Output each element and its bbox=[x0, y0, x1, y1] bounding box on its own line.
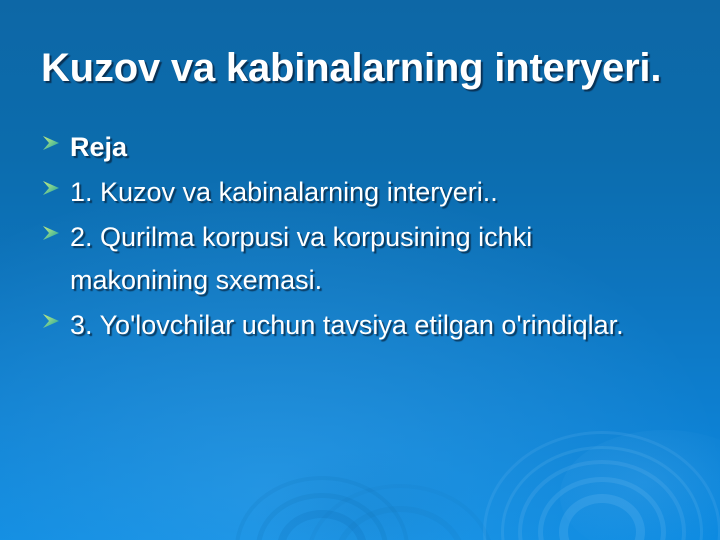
ripple-ring bbox=[483, 431, 720, 540]
ripple-ring bbox=[559, 494, 645, 540]
list-item-label: Reja bbox=[70, 126, 662, 169]
list-item-label: 2. Qurilma korpusi va korpusining ichki … bbox=[70, 216, 662, 302]
ripple-ring bbox=[538, 477, 666, 540]
list-item-label: 1. Kuzov va kabinalarning interyeri.. bbox=[70, 171, 662, 214]
arrowhead-bullet-icon bbox=[42, 135, 70, 173]
ripple-ring bbox=[306, 484, 494, 540]
ripple-ring bbox=[235, 476, 409, 540]
list-item: 1. Kuzov va kabinalarning interyeri.. bbox=[42, 171, 662, 214]
ripple-ring bbox=[277, 510, 367, 540]
arrowhead-bullet-icon bbox=[42, 180, 70, 218]
background-shadow-blob bbox=[250, 450, 480, 540]
list-item: Reja bbox=[42, 126, 662, 169]
ripple-ring bbox=[501, 446, 703, 540]
presentation-slide: Kuzov va kabinalarning interyeri. Reja bbox=[0, 0, 720, 540]
ripple-ring bbox=[518, 460, 686, 540]
slide-title: Kuzov va kabinalarning interyeri. bbox=[41, 44, 691, 92]
background-highlight-blob bbox=[560, 430, 720, 540]
ripple-ring bbox=[334, 506, 466, 540]
slide-bullet-list: Reja 1. Kuzov va kabinalarning interyeri… bbox=[42, 126, 662, 349]
ripple-ring bbox=[256, 493, 388, 540]
arrowhead-bullet-icon bbox=[42, 313, 70, 351]
arrowhead-bullet-icon bbox=[42, 225, 70, 263]
list-item: 2. Qurilma korpusi va korpusining ichki … bbox=[42, 216, 662, 302]
list-item-label: 3. Yo'lovchilar uchun tavsiya etilgan o'… bbox=[70, 304, 662, 347]
list-item: 3. Yo'lovchilar uchun tavsiya etilgan o'… bbox=[42, 304, 662, 347]
